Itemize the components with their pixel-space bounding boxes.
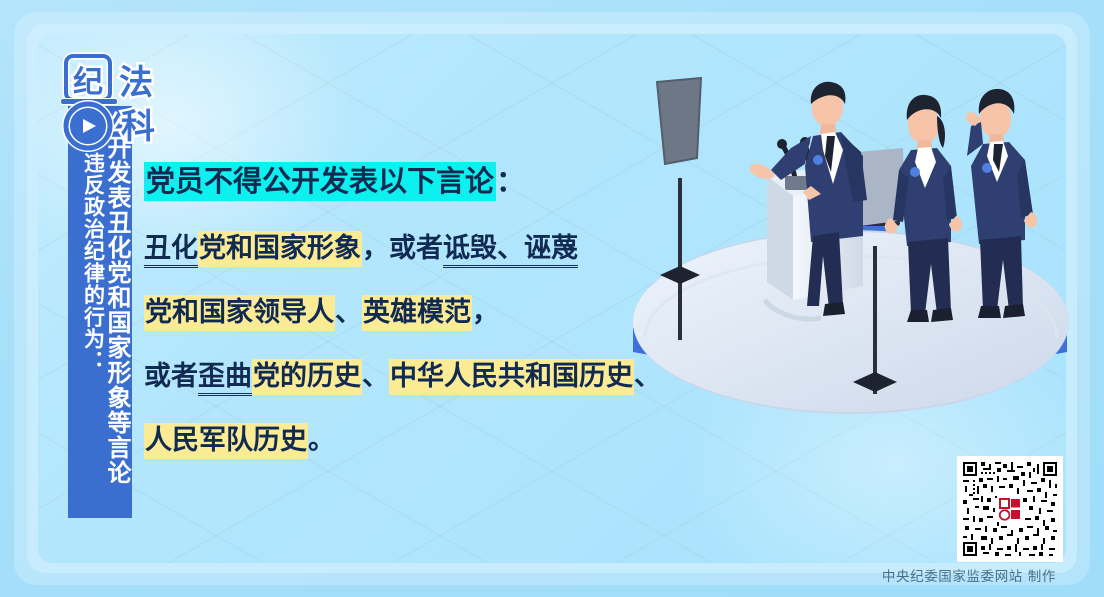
vertical-banner: 公开发表丑化党和国家形象等言论 违反政治纪律的行为： xyxy=(68,106,132,518)
line4-tail: 、 xyxy=(634,359,661,395)
credit-text: 中央纪委国家监委网站 制作 xyxy=(882,565,1056,585)
line2-underlined-chouhua: 丑化 xyxy=(144,233,198,268)
line1-tail: ： xyxy=(496,162,525,201)
line4-underlined-waiqu: 歪曲 xyxy=(198,361,252,396)
line3-tail: ， xyxy=(472,295,499,331)
text-line-3: 党和国家领导人、英雄模范， xyxy=(144,290,744,329)
line4-highlight-party-history: 党的历史 xyxy=(252,359,362,395)
line3-highlight-heroes: 英雄模范 xyxy=(362,295,472,331)
line1-highlight: 党员不得公开发表以下言论 xyxy=(144,162,496,201)
text-line-5: 人民军队历史。 xyxy=(144,418,744,457)
line5-tail: 。 xyxy=(308,423,335,459)
svg-text:纪: 纪 xyxy=(73,65,103,100)
text-line-4: 或者歪曲党的历史、中华人民共和国历史、 xyxy=(144,354,744,393)
qr-code[interactable] xyxy=(957,456,1063,562)
line2-underlined-digui: 诋毁、诬蔑 xyxy=(443,233,578,268)
logo-jifa-baike: 纪 法 科 xyxy=(58,50,170,154)
text-line-1: 党员不得公开发表以下言论： xyxy=(144,158,744,200)
line4-separator: 、 xyxy=(362,359,389,395)
text-line-2: 丑化党和国家形象，或者诋毁、诬蔑 xyxy=(144,226,744,265)
line2-highlight: 党和国家形象 xyxy=(198,231,362,267)
poster-canvas: 纪 法 科 公开发表丑化党和国家形象等言论 违反政治纪律的行为： 党员不得公开发… xyxy=(0,0,1104,597)
line5-highlight-army-history: 人民军队历史 xyxy=(144,423,308,459)
line2-mid: ，或者 xyxy=(362,231,443,267)
svg-text:科: 科 xyxy=(121,107,155,147)
line4-lead: 或者 xyxy=(144,359,198,395)
body-text-block: 党员不得公开发表以下言论： 丑化党和国家形象，或者诋毁、诬蔑 党和国家领导人、英… xyxy=(144,158,744,457)
line4-highlight-prc-history: 中华人民共和国历史 xyxy=(389,359,634,395)
line3-highlight-leaders: 党和国家领导人 xyxy=(144,295,335,331)
line3-separator: 、 xyxy=(335,295,362,331)
banner-column-sub: 违反政治纪律的行为： xyxy=(82,106,104,512)
banner-column-main: 公开发表丑化党和国家形象等言论 xyxy=(105,106,131,514)
svg-text:法: 法 xyxy=(119,63,153,103)
